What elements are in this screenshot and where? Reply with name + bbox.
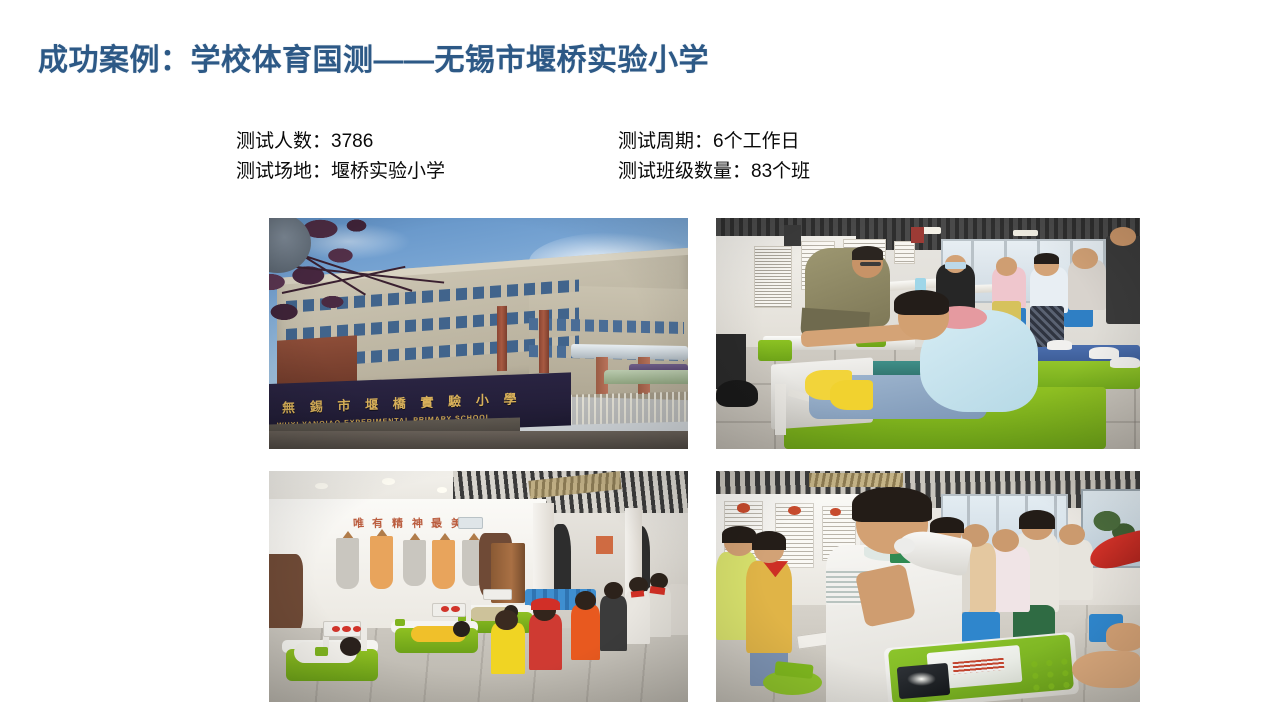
ceiling-panel (809, 473, 902, 487)
counter-indicator (332, 626, 340, 632)
counter-indicator (342, 626, 350, 632)
student-head (1110, 227, 1135, 245)
student-hair (1034, 253, 1059, 265)
student-hair (1019, 510, 1055, 528)
info-label-classes: 测试班级数量： (618, 157, 751, 187)
tent (604, 370, 688, 384)
student-standing (1106, 236, 1140, 324)
red-cap (531, 598, 560, 610)
shoe (1047, 340, 1072, 349)
ceiling-light (1013, 230, 1038, 236)
info-label-venue: 测试场地： (236, 157, 331, 187)
student-head (604, 582, 623, 599)
counter-indicator (353, 626, 361, 632)
facade-column (497, 306, 507, 371)
sign-char: 橋 (392, 393, 405, 413)
face-mask (945, 262, 966, 269)
photo-situp-test-scene: 唯 有 精 神 最 美 (269, 471, 688, 702)
ceiling-light (315, 483, 328, 490)
photo-sit-and-reach-scene (716, 218, 1140, 449)
slogan-char: 唯 (352, 515, 364, 532)
sign-char: 驗 (448, 391, 461, 411)
shoe (1110, 357, 1140, 369)
wall-decal (269, 554, 303, 637)
student-head (575, 591, 596, 609)
device-green-panel (758, 340, 792, 361)
situp-counter-panel (432, 603, 466, 617)
sign-char: 無 (282, 397, 295, 417)
sign-char: 堰 (365, 394, 378, 414)
ceiling-light (382, 478, 395, 485)
device-lcd-glare (907, 672, 937, 686)
tested-student-hair (894, 290, 949, 315)
wall-picture (596, 536, 613, 554)
staff-hair (852, 246, 884, 260)
staff-member (529, 614, 563, 669)
wall-slogan: 唯 有 精 神 最 美 (353, 515, 462, 531)
student-hair (930, 517, 964, 533)
glasses-icon (860, 262, 881, 267)
sign-char: 市 (337, 395, 350, 415)
wall-scroll (336, 538, 359, 589)
student-head (992, 529, 1020, 552)
info-value-venue: 堰桥实验小学 (331, 157, 445, 187)
photo-school-facade-scene: 無 錫 市 堰 橋 實 驗 小 學 WUXI YANQIAO EXPERIMEN… (269, 218, 688, 449)
info-item-venue: 测试场地： 堰桥实验小学 (236, 157, 618, 187)
ground (269, 431, 688, 449)
wall-poster (754, 246, 792, 308)
info-item-duration: 测试周期： 6个工作日 (618, 127, 996, 157)
foreground-shoe (716, 380, 758, 408)
photo-sit-and-reach-test (716, 218, 1140, 449)
info-item-participants: 测试人数： 3786 (236, 127, 618, 157)
info-label-participants: 测试人数： (236, 127, 331, 157)
entrance-canopy (571, 344, 688, 360)
photo-grid: 無 錫 市 堰 橋 實 驗 小 學 WUXI YANQIAO EXPERIMEN… (229, 202, 1101, 686)
slogan-char: 神 (411, 515, 423, 532)
red-scarf (650, 586, 665, 595)
device-post (361, 619, 367, 651)
student-queue (571, 605, 600, 660)
wall-badge (458, 517, 483, 529)
sign-char: 錫 (309, 396, 322, 416)
staff-hand (1072, 651, 1140, 688)
student-head (1072, 248, 1097, 269)
photo-lung-capacity-test (716, 471, 1140, 702)
info-value-duration: 6个工作日 (713, 127, 800, 157)
ceiling-light (437, 487, 447, 493)
test-summary-info: 测试人数： 3786 测试周期： 6个工作日 测试场地： 堰桥实验小学 测试班级… (236, 127, 996, 187)
student-head (340, 637, 361, 655)
sign-char: 學 (503, 389, 516, 409)
board-marker (830, 508, 841, 516)
student-queue (625, 591, 650, 644)
info-item-classes: 测试班级数量： 83个班 (618, 157, 996, 187)
sign-char: 實 (420, 392, 433, 412)
photo-situp-test-hall: 唯 有 精 神 最 美 (269, 471, 688, 702)
counter-indicator (451, 606, 459, 612)
board-marker (737, 503, 750, 512)
device-keypad (1024, 654, 1074, 697)
info-value-participants: 3786 (331, 127, 373, 157)
photo-school-facade: 無 錫 市 堰 橋 實 驗 小 學 WUXI YANQIAO EXPERIMEN… (269, 218, 688, 449)
device-leg (775, 384, 786, 435)
tested-student-hair (852, 487, 933, 522)
wall-scroll (403, 540, 426, 586)
wall-scroll (432, 540, 455, 589)
wall-scroll (370, 536, 393, 589)
device-green-box (395, 619, 405, 626)
student-queue (600, 596, 627, 651)
wall-portrait (784, 225, 801, 246)
facade-column (539, 310, 549, 372)
student-head (996, 257, 1017, 275)
slogan-char: 精 (392, 515, 404, 532)
board-marker (788, 506, 801, 515)
slogan-char: 最 (431, 515, 443, 532)
page-title: 成功案例：学校体育国测——无锡市堰桥实验小学 (38, 42, 709, 80)
student-background (1055, 540, 1093, 600)
yellow-sock (830, 380, 872, 410)
slide-root: 成功案例：学校体育国测——无锡市堰桥实验小学 测试人数： 3786 测试周期： … (0, 0, 1280, 720)
situp-counter-panel (483, 589, 512, 601)
wall-poster (894, 241, 915, 264)
device-green-box (315, 647, 328, 656)
student-head (1059, 524, 1084, 545)
photo-lung-capacity-scene (716, 471, 1140, 702)
wall-sign (911, 227, 924, 243)
info-value-classes: 83个班 (751, 157, 810, 187)
student-waiting (746, 561, 793, 653)
sign-char: 小 (475, 390, 488, 410)
student-foreground (491, 623, 525, 674)
student-hair (752, 531, 786, 549)
info-label-duration: 测试周期： (618, 127, 713, 157)
staff-hand (1106, 623, 1140, 651)
